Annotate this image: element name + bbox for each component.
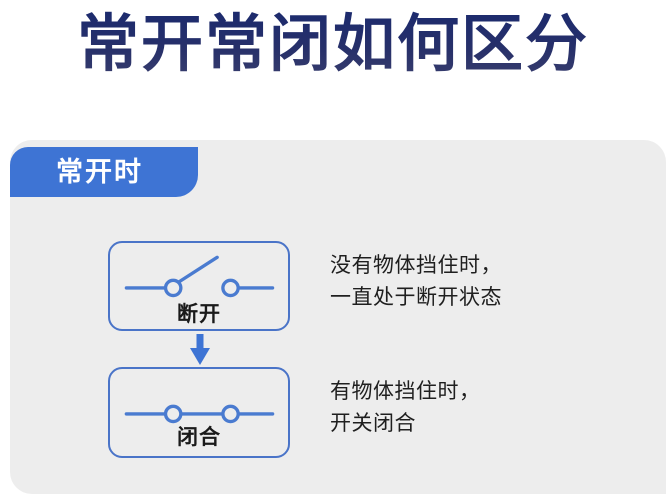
section-tab-label: 常开时: [56, 159, 143, 186]
content-panel: 常开时 断开 闭合 没有物体挡住时， 一直处于断开状态 有物体挡住时， 开关闭合: [10, 140, 666, 494]
switch-caption-open: 断开: [110, 298, 288, 328]
description-open-line-1: 没有物体挡住时，: [330, 250, 630, 282]
description-open-line-2: 一直处于断开状态: [330, 282, 630, 314]
description-closed-line-1: 有物体挡住时，: [330, 376, 630, 408]
switch-diagram-closed: 闭合: [108, 367, 290, 458]
description-open: 没有物体挡住时， 一直处于断开状态: [330, 250, 630, 314]
description-closed: 有物体挡住时， 开关闭合: [330, 376, 630, 440]
section-tab-normally-open[interactable]: 常开时: [10, 147, 198, 197]
description-closed-line-2: 开关闭合: [330, 408, 630, 440]
page-title: 常开常闭如何区分: [0, 6, 666, 84]
down-arrow-icon: [190, 334, 210, 366]
switch-diagram-open: 断开: [108, 241, 290, 331]
switch-caption-closed: 闭合: [110, 421, 288, 451]
